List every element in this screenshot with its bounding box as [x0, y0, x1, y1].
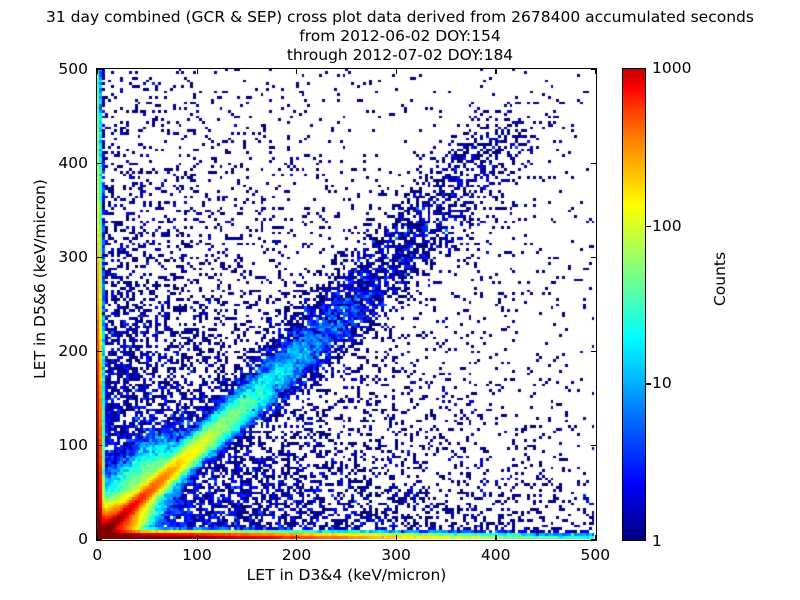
title-line-1: 31 day combined (GCR & SEP) cross plot d… — [0, 8, 800, 27]
y-axis-label: LET in D5&6 (keV/micron) — [31, 169, 49, 389]
x-tick-300 — [396, 535, 397, 540]
colorbar-tick-100 — [646, 226, 651, 227]
y-tick-100 — [97, 445, 102, 446]
y-tick-label-300: 300 — [58, 248, 88, 266]
y-tick-right-300 — [591, 257, 596, 258]
colorbar-tick-10 — [646, 383, 651, 384]
x-tick-top-100 — [197, 69, 198, 74]
x-tick-top-300 — [396, 69, 397, 74]
x-tick-label-300: 300 — [381, 546, 411, 564]
colorbar-label: Counts — [711, 199, 729, 359]
x-tick-label-500: 500 — [581, 546, 611, 564]
colorbar[interactable] — [622, 68, 646, 541]
colorbar-tick-label-1000: 1000 — [652, 59, 691, 77]
x-tick-label-200: 200 — [282, 546, 312, 564]
colorbar-tick-label-10: 10 — [652, 374, 672, 392]
y-tick-300 — [97, 257, 102, 258]
y-tick-right-100 — [591, 445, 596, 446]
x-tick-label-100: 100 — [182, 546, 212, 564]
x-tick-400 — [495, 535, 496, 540]
y-tick-label-100: 100 — [58, 436, 88, 454]
y-tick-200 — [97, 351, 102, 352]
y-tick-right-400 — [591, 163, 596, 164]
colorbar-tick-label-100: 100 — [652, 217, 682, 235]
x-tick-label-0: 0 — [92, 546, 102, 564]
scatter-plot-axes[interactable] — [96, 68, 597, 541]
y-tick-right-0 — [591, 539, 596, 540]
x-tick-top-400 — [495, 69, 496, 74]
y-tick-right-500 — [591, 69, 596, 70]
y-tick-label-0: 0 — [78, 530, 88, 548]
y-tick-label-400: 400 — [58, 154, 88, 172]
scatter-data-layer — [97, 69, 595, 539]
title-line-2: from 2012-06-02 DOY:154 — [0, 27, 800, 46]
plot-title: 31 day combined (GCR & SEP) cross plot d… — [0, 8, 800, 65]
y-tick-label-200: 200 — [58, 342, 88, 360]
y-tick-0 — [97, 539, 102, 540]
colorbar-gradient — [622, 68, 646, 541]
figure-canvas: 31 day combined (GCR & SEP) cross plot d… — [0, 0, 800, 600]
x-tick-200 — [296, 535, 297, 540]
y-tick-500 — [97, 69, 102, 70]
y-tick-right-200 — [591, 351, 596, 352]
x-tick-label-400: 400 — [481, 546, 511, 564]
x-tick-100 — [197, 535, 198, 540]
y-tick-label-500: 500 — [58, 60, 88, 78]
x-axis-label: LET in D3&4 (keV/micron) — [96, 566, 597, 584]
x-tick-top-200 — [296, 69, 297, 74]
colorbar-tick-label-1: 1 — [652, 532, 662, 550]
y-tick-400 — [97, 163, 102, 164]
